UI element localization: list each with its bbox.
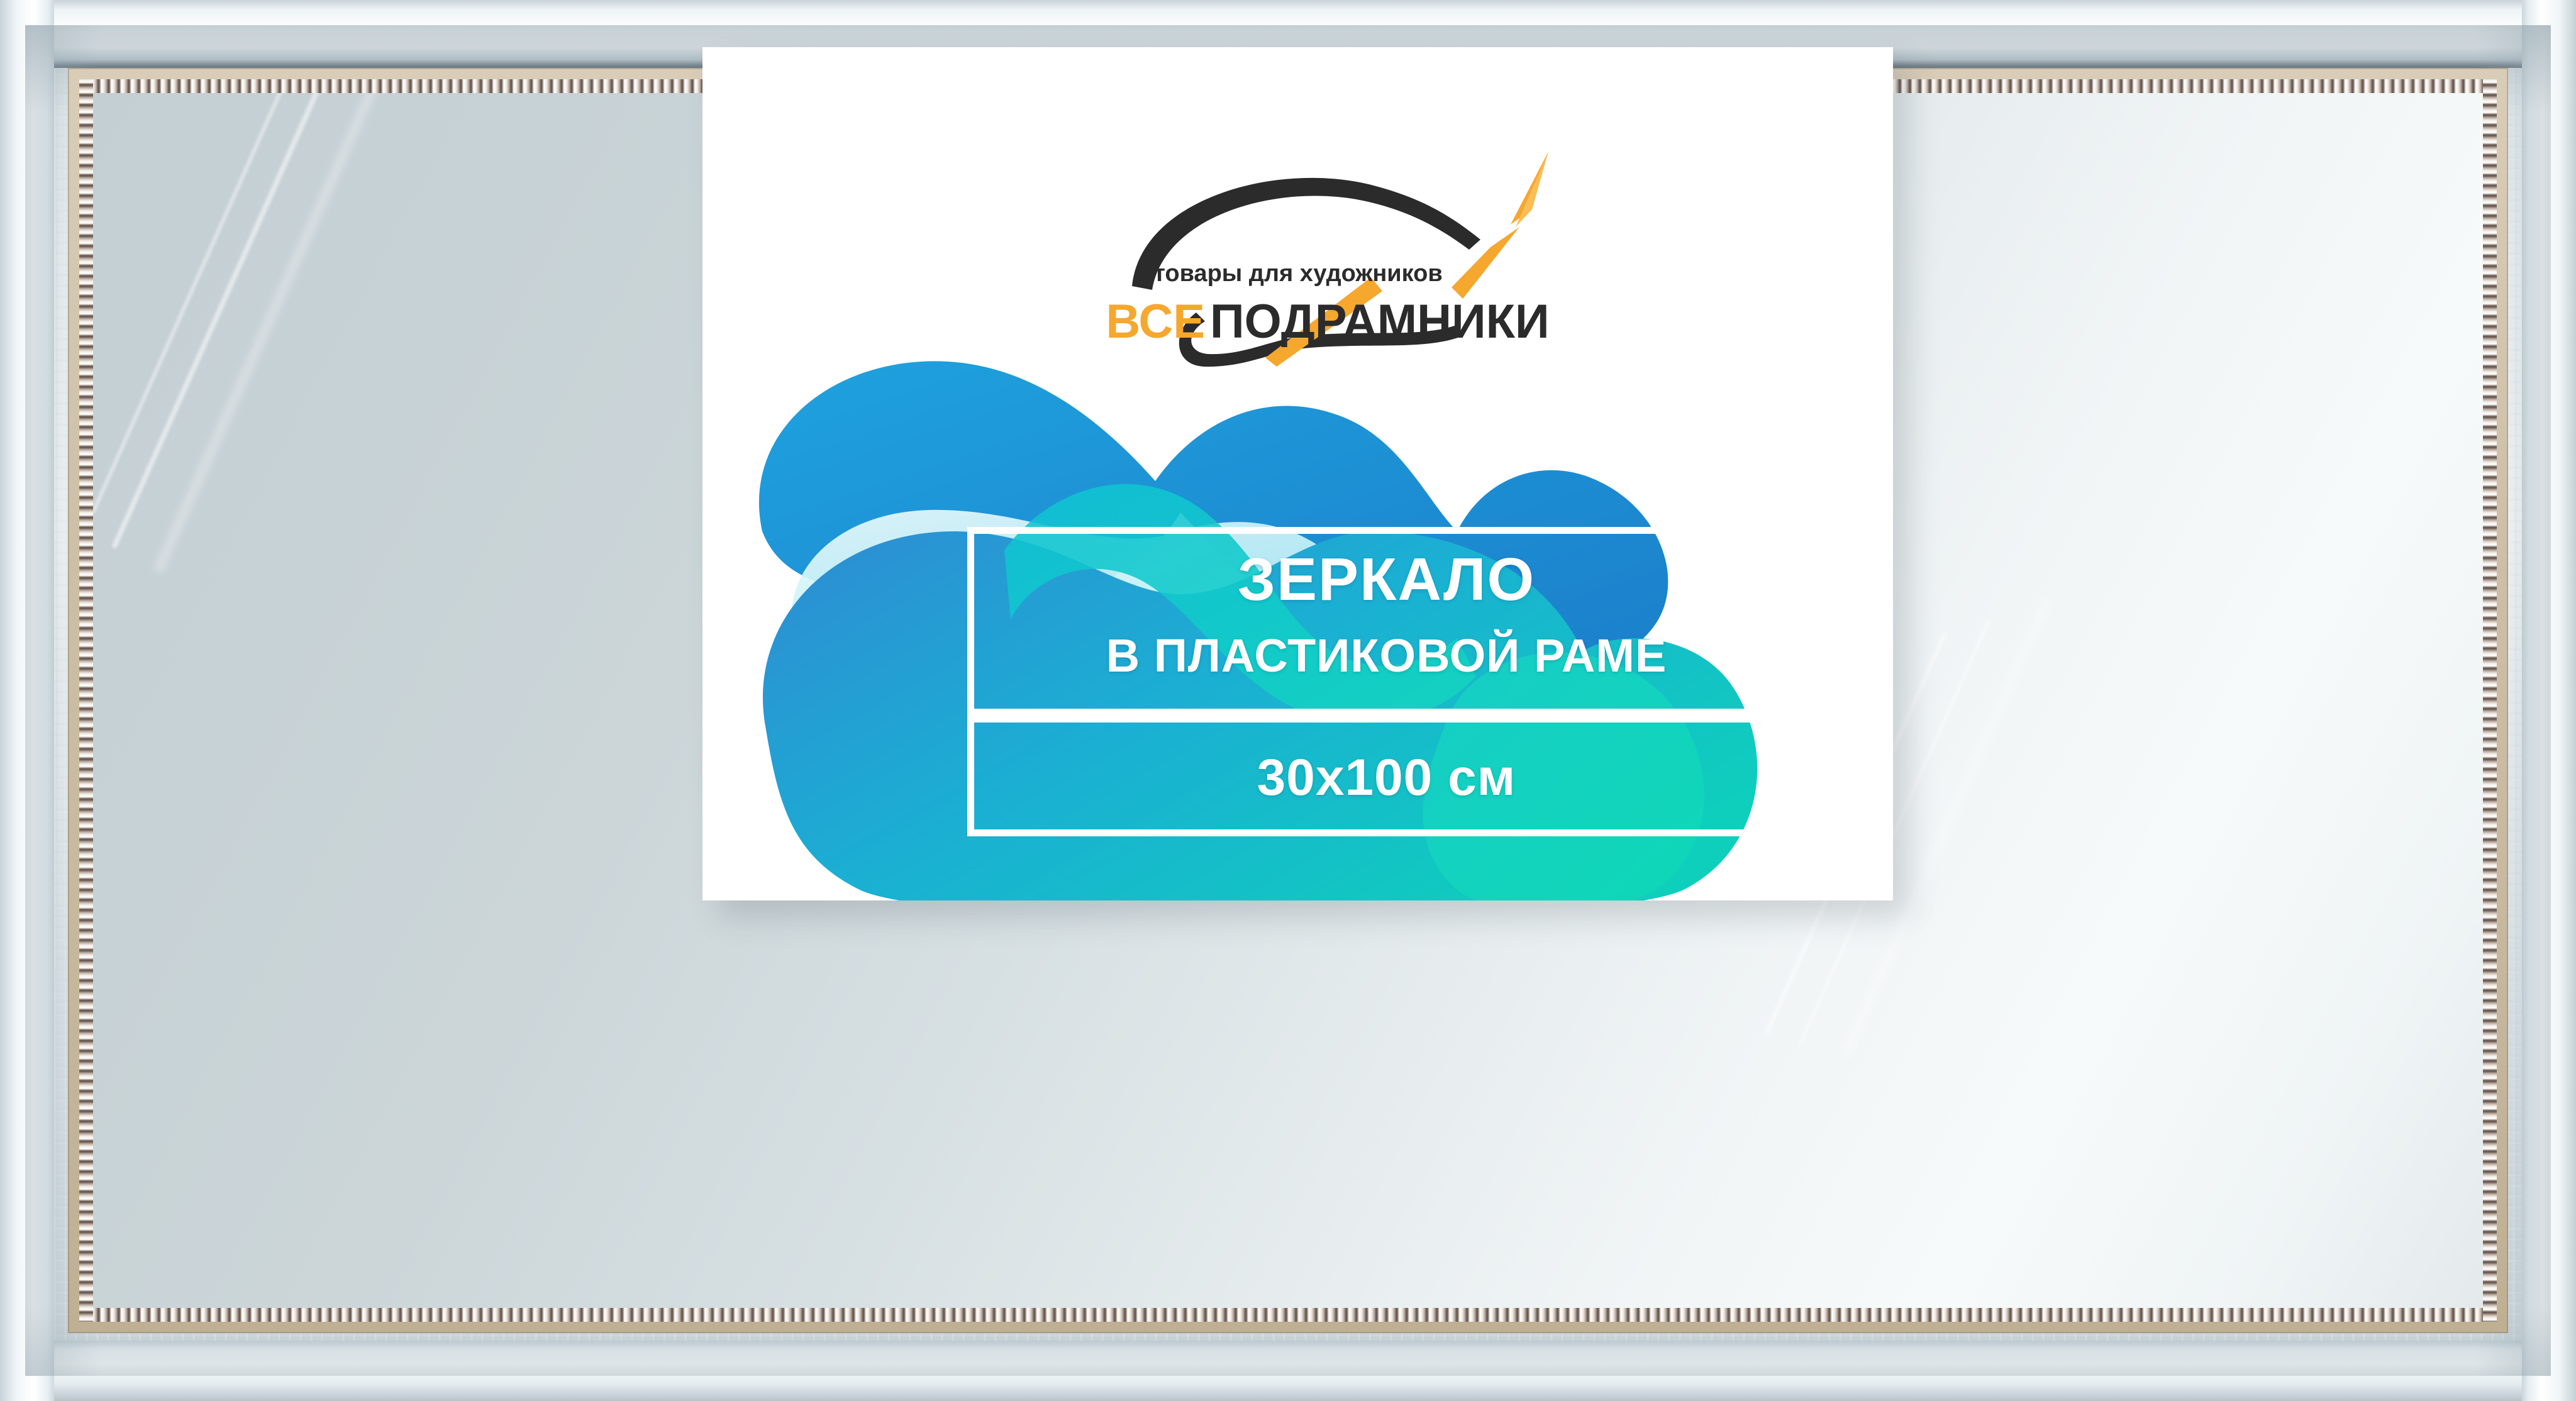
product-photo-canvas: товары для художников ВСЕ ПОДРАМНИКИ — [0, 0, 2576, 1401]
paintbrush-icon — [1452, 152, 1548, 299]
product-text-frames: ЗЕРКАЛО В ПЛАСТИКОВОЙ РАМЕ 30x100 см — [967, 527, 1806, 836]
brand-tagline: товары для художников — [1153, 260, 1443, 287]
product-subtitle: В ПЛАСТИКОВОЙ РАМЕ — [967, 633, 1806, 679]
product-title: ЗЕРКАЛО — [967, 550, 1806, 610]
product-size: 30x100 см — [967, 752, 1806, 804]
frame-bead-left — [79, 79, 93, 1322]
product-label-card: товары для художников ВСЕ ПОДРАМНИКИ — [702, 47, 1893, 900]
frame-bead-bottom — [79, 1308, 2497, 1322]
frame-bead-right — [2483, 79, 2497, 1322]
